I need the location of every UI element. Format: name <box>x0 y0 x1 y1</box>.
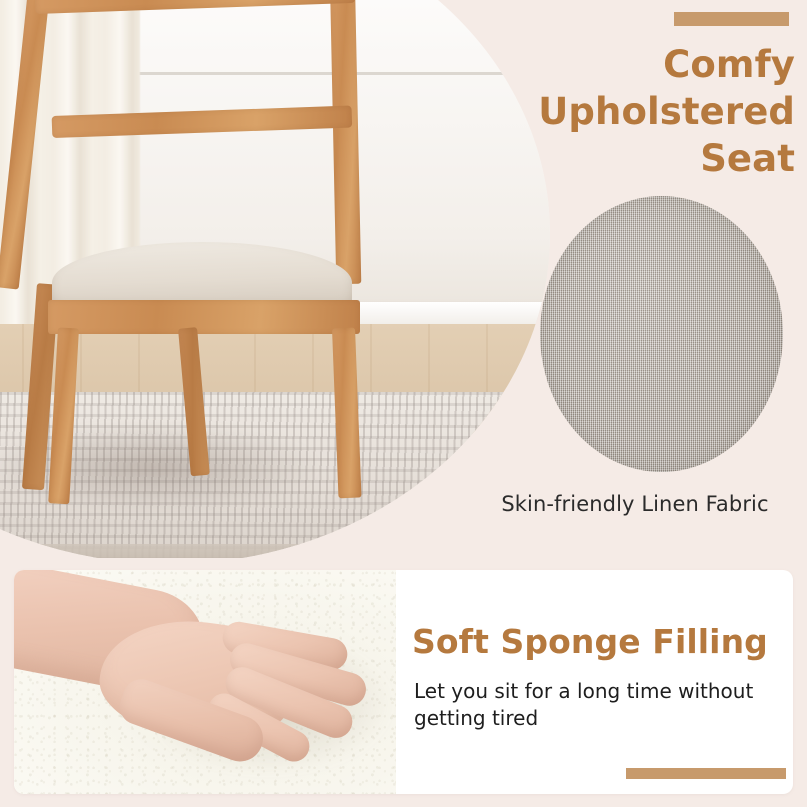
sponge-filling-section: Soft Sponge Filling Let you sit for a lo… <box>0 558 807 807</box>
headline-line-1: Comfy <box>375 42 795 89</box>
headline-line-3: Seat <box>375 136 795 183</box>
sponge-description: Let you sit for a long time without gett… <box>414 678 786 732</box>
page-title: Comfy Upholstered Seat <box>375 42 795 183</box>
linen-fabric-swatch <box>540 196 783 472</box>
upholstered-seat-section: Comfy Upholstered Seat Skin-friendly Lin… <box>0 0 807 558</box>
sponge-title: Soft Sponge Filling <box>412 622 768 661</box>
fabric-caption: Skin-friendly Linen Fabric <box>470 492 800 516</box>
rug-edge <box>0 544 550 558</box>
headline-line-2: Upholstered <box>375 89 795 136</box>
product-feature-poster: Comfy Upholstered Seat Skin-friendly Lin… <box>0 0 807 807</box>
accent-bar-top <box>674 12 789 26</box>
sponge-feature-card: Soft Sponge Filling Let you sit for a lo… <box>14 570 793 794</box>
accent-bar-bottom <box>626 768 786 779</box>
sponge-foam-photo <box>14 570 396 794</box>
chair-seat-apron <box>48 300 360 334</box>
